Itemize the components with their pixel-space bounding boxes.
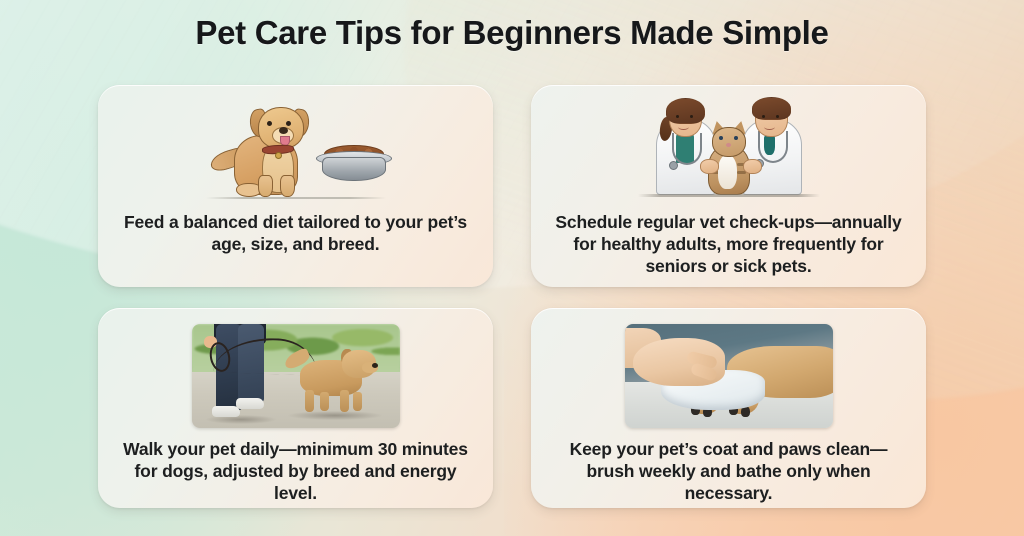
tip-card-nutrition: Feed a balanced diet tailored to your pe… [98, 85, 493, 287]
vet-hair-shape [752, 97, 791, 120]
dog-nose-shape [279, 127, 288, 134]
ground-line [206, 197, 386, 199]
stethoscope-icon [672, 133, 702, 165]
dog-leg-shape [305, 390, 314, 412]
dog-nose-shape [372, 363, 378, 368]
tip-card-grooming: Keep your pet’s coat and paws clean—brus… [531, 308, 926, 508]
vet-hair-shape [666, 98, 705, 124]
tips-grid: Feed a balanced diet tailored to your pe… [98, 85, 926, 508]
cat-nose-shape [726, 143, 731, 147]
page-title: Pet Care Tips for Beginners Made Simple [0, 14, 1024, 52]
vet-hand-shape [700, 159, 719, 174]
dog-shadow [288, 411, 382, 420]
dog-eye-shape [267, 121, 272, 126]
person-shoe-shape [212, 406, 240, 417]
dog-leg-shape [353, 392, 362, 411]
dog-front-leg-shape [258, 175, 273, 197]
person-walking-dog-photo [192, 324, 400, 428]
dog-leg-shape [320, 392, 329, 411]
tip-card-caption: Keep your pet’s coat and paws clean—brus… [531, 438, 926, 504]
tip-card-daily-walk: Walk your pet daily—minimum 30 minutes f… [98, 308, 493, 508]
tip-card-media [531, 85, 926, 203]
vet-smile-shape [678, 124, 689, 130]
vet-hand-shape [743, 159, 762, 174]
dog-front-leg-shape [280, 175, 295, 197]
dog-with-food-bowl-icon [196, 95, 396, 203]
veterinarians-examining-cat-icon [624, 93, 834, 203]
tip-card-media [531, 308, 926, 428]
stethoscope-bell-shape [669, 161, 678, 170]
dog-eye-shape [286, 121, 291, 126]
cat-eye-shape [734, 136, 738, 140]
vet-smile-shape [764, 124, 775, 130]
tip-card-caption: Feed a balanced diet tailored to your pe… [98, 211, 493, 255]
tip-card-vet-checkups: Schedule regular vet check-ups—annually … [531, 85, 926, 287]
tip-card-caption: Schedule regular vet check-ups—annually … [531, 211, 926, 277]
dog-leg-shape [340, 390, 349, 412]
food-bowl-shape [322, 157, 386, 181]
tip-card-caption: Walk your pet daily—minimum 30 minutes f… [98, 438, 493, 504]
cat-chest-shape [718, 155, 737, 189]
tip-card-media [98, 308, 493, 428]
exam-table-line [638, 194, 820, 197]
dog-collar-tag-shape [275, 152, 282, 159]
tip-card-media [98, 85, 493, 203]
infographic-root: Pet Care Tips for Beginners Made Simple [0, 0, 1024, 536]
cat-eye-shape [719, 136, 723, 140]
cat-head-shape [712, 127, 746, 157]
cleaning-dog-paws-photo [625, 324, 833, 428]
person-shoe-shape [236, 398, 264, 409]
